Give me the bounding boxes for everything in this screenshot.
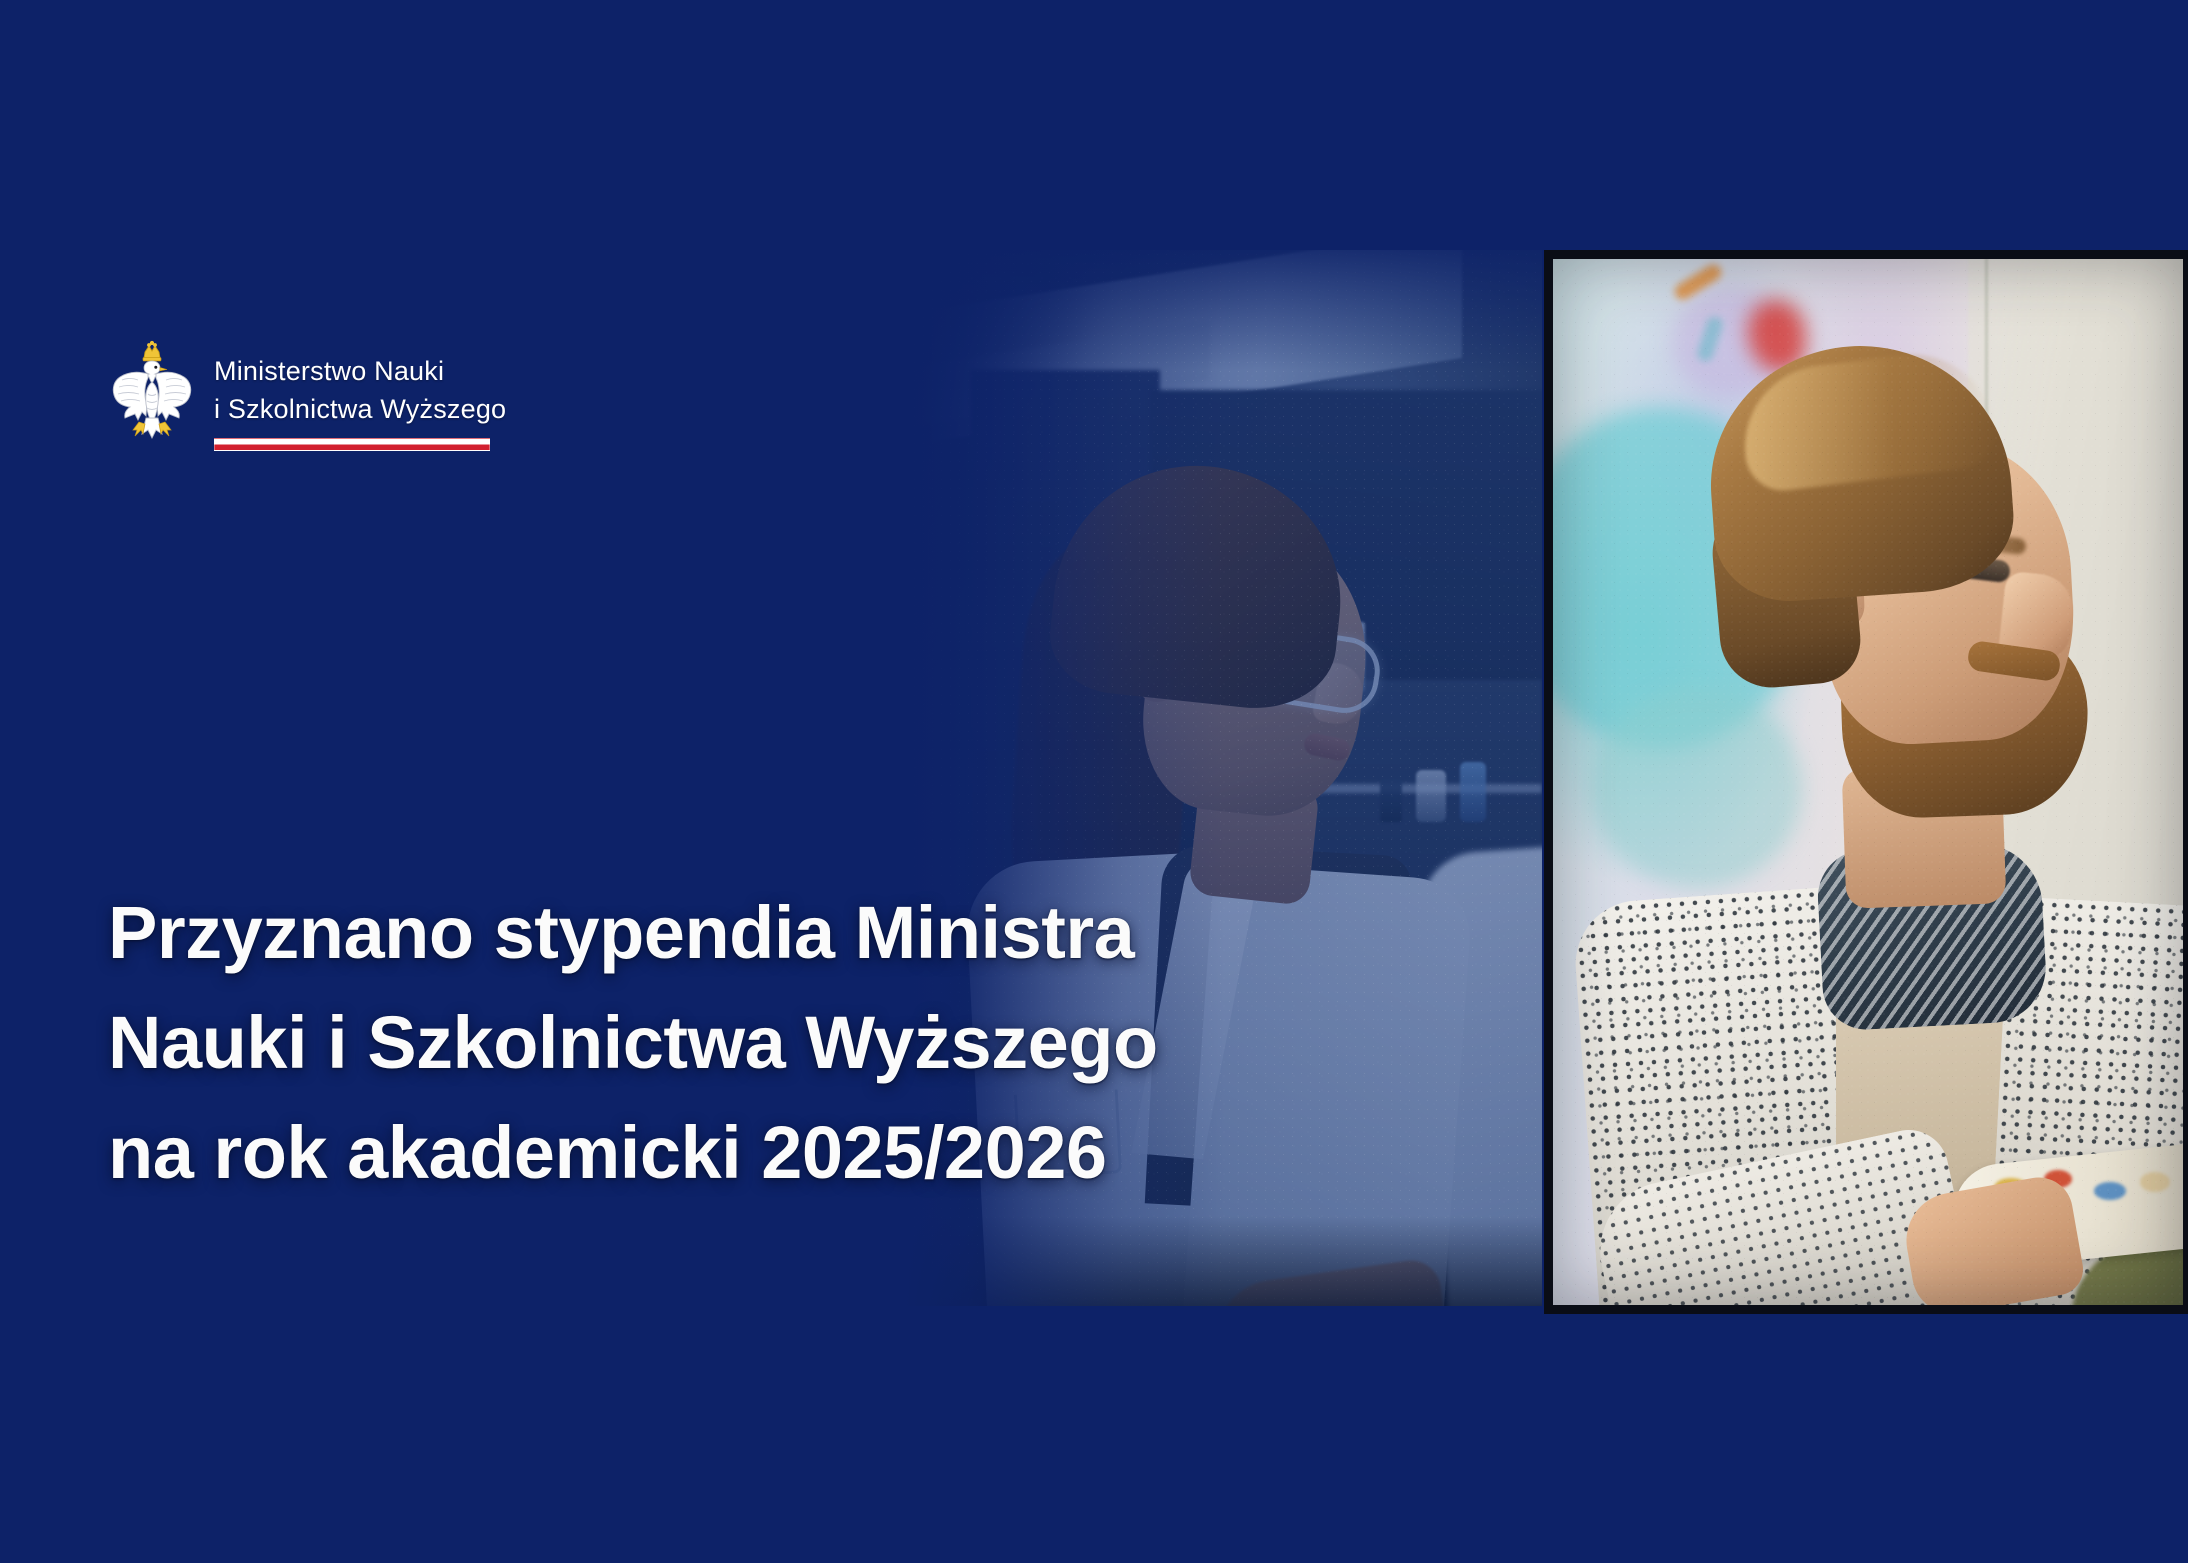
stipend-announcement-banner: Ministerstwo Nauki i Szkolnictwa Wyższeg… xyxy=(0,0,2188,1563)
ministry-name-line-2: i Szkolnictwa Wyższego xyxy=(214,390,506,428)
ministry-name-line-1: Ministerstwo Nauki xyxy=(214,352,506,390)
polish-flag-bar xyxy=(214,438,490,451)
ministry-logo: Ministerstwo Nauki i Szkolnictwa Wyższeg… xyxy=(108,338,506,451)
artist-photo-frame xyxy=(1544,250,2188,1314)
polish-eagle-emblem-icon xyxy=(108,338,196,442)
ministry-logo-text: Ministerstwo Nauki i Szkolnictwa Wyższeg… xyxy=(214,338,506,451)
headline-line-3: na rok akademicki 2025/2026 xyxy=(108,1098,1398,1208)
headline-line-2: Nauki i Szkolnictwa Wyższego xyxy=(108,988,1398,1098)
page-title: Przyznano stypendia Ministra Nauki i Szk… xyxy=(108,878,1398,1208)
headline-line-1: Przyznano stypendia Ministra xyxy=(108,878,1398,988)
artist-studio-photo xyxy=(1544,250,2188,1314)
